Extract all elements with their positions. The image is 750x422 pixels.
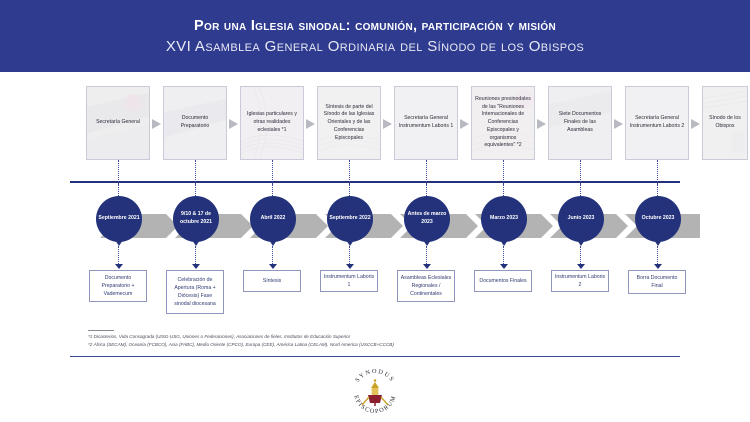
pin-tip-icon [654,240,662,246]
connector-bottom-1 [118,246,119,266]
date-circle: Abril 2022 [250,196,296,242]
timeline-date-8[interactable]: Octubre 2023 [635,196,681,242]
stage-label: Siete Documentos Finales de las Asamblea… [552,111,608,134]
stage-label: Sínodo de los Obispos [706,115,744,131]
page-title-secondary: XVI Asamblea General Ordinaria del Sínod… [166,38,584,55]
footnote-1: *1 Dicasterios, Vida Consagrada (UISG-US… [88,333,668,341]
outcome-box-4: Instrumentum Laboris 1 [320,270,378,292]
connector-arrow-icon-1 [115,264,123,269]
connector-top-2 [195,160,196,184]
connector-bottom-7 [580,246,581,266]
stage-box-4: Síntesis de parte del Sínodo de las Igle… [317,86,381,160]
stage-boxes-row: Secretaría General Documento Preparatori… [0,86,750,160]
connector-bottom-5 [426,246,427,266]
stage-box-1: Secretaría General [86,86,150,160]
stage-box-9: Sínodo de los Obispos [702,86,748,160]
outcome-label: Instrumentum Laboris 2 [554,273,606,289]
flow-arrow-icon-3 [306,119,315,129]
connector-mid-3 [272,184,273,196]
pin-tip-icon [192,240,200,246]
pin-tip-icon [577,240,585,246]
flow-arrow-icon-8 [691,119,700,129]
pin-tip-icon [500,240,508,246]
outcome-box-2: Celebración de Apertura (Roma + Diócesis… [166,270,224,314]
flow-arrow-icon-6 [537,119,546,129]
connector-bottom-4 [349,246,350,266]
connector-arrow-icon-7 [577,264,585,269]
stage-box-6: Reuniones presinodales de las "Reuniones… [471,86,535,160]
date-circle: Septiembre 2022 [327,196,373,242]
outcome-label: Documento Preparatorio + Vademecum [92,274,144,298]
date-label: Abril 2022 [261,215,286,223]
flow-arrow-icon-4 [383,119,392,129]
connector-top-6 [503,160,504,184]
stage-box-2: Documento Preparatorio [163,86,227,160]
connector-arrow-icon-2 [192,264,200,269]
stage-label: Documento Preparatorio [167,115,223,131]
connector-bottom-8 [657,246,658,266]
date-label: Marzo 2023 [490,215,518,223]
stage-label: Secretaría General Instrumentum Laboris … [629,115,685,131]
date-label: 9/10 & 17 de octubre 2021 [175,211,217,226]
pin-tip-icon [423,240,431,246]
connector-bottom-2 [195,246,196,266]
timeline-date-3[interactable]: Abril 2022 [250,196,296,242]
date-circle: Septiembre 2021 [96,196,142,242]
synod-emblem: SYNODUS EPISCOPORUM [341,366,409,416]
outcome-box-8: Borra Documento Final [628,270,686,294]
timeline-date-2[interactable]: 9/10 & 17 de octubre 2021 [173,196,219,242]
timeline-divider [70,181,680,183]
outcome-label: Asambleas Eclesiales Regionales / Contin… [400,274,452,298]
date-circle: 9/10 & 17 de octubre 2021 [173,196,219,242]
flow-arrow-icon-5 [460,119,469,129]
header-banner: Por una Iglesia sinodal: comunión, parti… [0,0,750,72]
connector-arrow-icon-4 [346,264,354,269]
stage-label: Secretaría General Instrumentum Laboris … [398,115,454,131]
connector-top-7 [580,160,581,184]
connector-top-5 [426,160,427,184]
pin-tip-icon [269,240,277,246]
stage-label: Iglesias particulares y otras realidades… [244,111,300,134]
stage-box-7: Siete Documentos Finales de las Asamblea… [548,86,612,160]
timeline-date-1[interactable]: Septiembre 2021 [96,196,142,242]
date-label: Antes de marzo 2023 [406,211,448,226]
connector-mid-5 [426,184,427,196]
stage-box-5: Secretaría General Instrumentum Laboris … [394,86,458,160]
outcome-box-3: Síntesis [243,270,301,292]
date-label: Octubre 2023 [642,215,675,223]
timeline-date-6[interactable]: Marzo 2023 [481,196,527,242]
connector-mid-6 [503,184,504,196]
outcome-label: Síntesis [263,277,281,285]
flow-arrow-icon-2 [229,119,238,129]
outcome-box-6: Documentos Finales [474,270,532,292]
pin-tip-icon [346,240,354,246]
stage-label: Secretaría General [96,119,140,127]
stage-label: Reuniones presinodales de las "Reuniones… [475,96,531,151]
footnote-2: *2 África (SECAM), Oceanía (FCBCO), Asia… [88,341,668,349]
connector-bottom-3 [272,246,273,266]
date-circle: Marzo 2023 [481,196,527,242]
connector-mid-2 [195,184,196,196]
stage-label: Síntesis de parte del Sínodo de las Igle… [321,104,377,143]
connector-arrow-icon-6 [500,264,508,269]
outcome-label: Instrumentum Laboris 1 [323,273,375,289]
connector-arrow-icon-3 [269,264,277,269]
connector-arrow-icon-5 [423,264,431,269]
stage-box-8: Secretaría General Instrumentum Laboris … [625,86,689,160]
connector-top-4 [349,160,350,184]
stage-box-3: Iglesias particulares y otras realidades… [240,86,304,160]
flow-arrow-icon-7 [614,119,623,129]
connector-mid-8 [657,184,658,196]
outcome-label: Documentos Finales [479,277,526,285]
date-label: Septiembre 2022 [329,215,370,223]
connector-top-8 [657,160,658,184]
timeline-date-5[interactable]: Antes de marzo 2023 [404,196,450,242]
page-title-primary: Por una Iglesia sinodal: comunión, parti… [194,18,556,34]
date-circle: Antes de marzo 2023 [404,196,450,242]
connector-mid-4 [349,184,350,196]
footnote-separator [88,330,114,331]
date-label: Junio 2023 [568,215,595,223]
date-circle: Octubre 2023 [635,196,681,242]
footer-divider [70,356,680,357]
timeline-date-7[interactable]: Junio 2023 [558,196,604,242]
outcome-box-1: Documento Preparatorio + Vademecum [89,270,147,302]
connector-top-3 [272,160,273,184]
outcome-label: Celebración de Apertura (Roma + Diócesis… [169,276,221,308]
outcome-box-7: Instrumentum Laboris 2 [551,270,609,292]
connector-arrow-icon-8 [654,264,662,269]
footnotes-block: *1 Dicasterios, Vida Consagrada (UISG-US… [88,330,668,348]
date-label: Septiembre 2021 [98,215,139,223]
outcome-box-5: Asambleas Eclesiales Regionales / Contin… [397,270,455,302]
outcome-label: Borra Documento Final [631,274,683,290]
flow-arrow-icon-1 [152,119,161,129]
timeline-date-4[interactable]: Septiembre 2022 [327,196,373,242]
connector-bottom-6 [503,246,504,266]
date-circle: Junio 2023 [558,196,604,242]
connector-mid-1 [118,184,119,196]
connector-mid-7 [580,184,581,196]
pin-tip-icon [115,240,123,246]
connector-top-1 [118,160,119,184]
